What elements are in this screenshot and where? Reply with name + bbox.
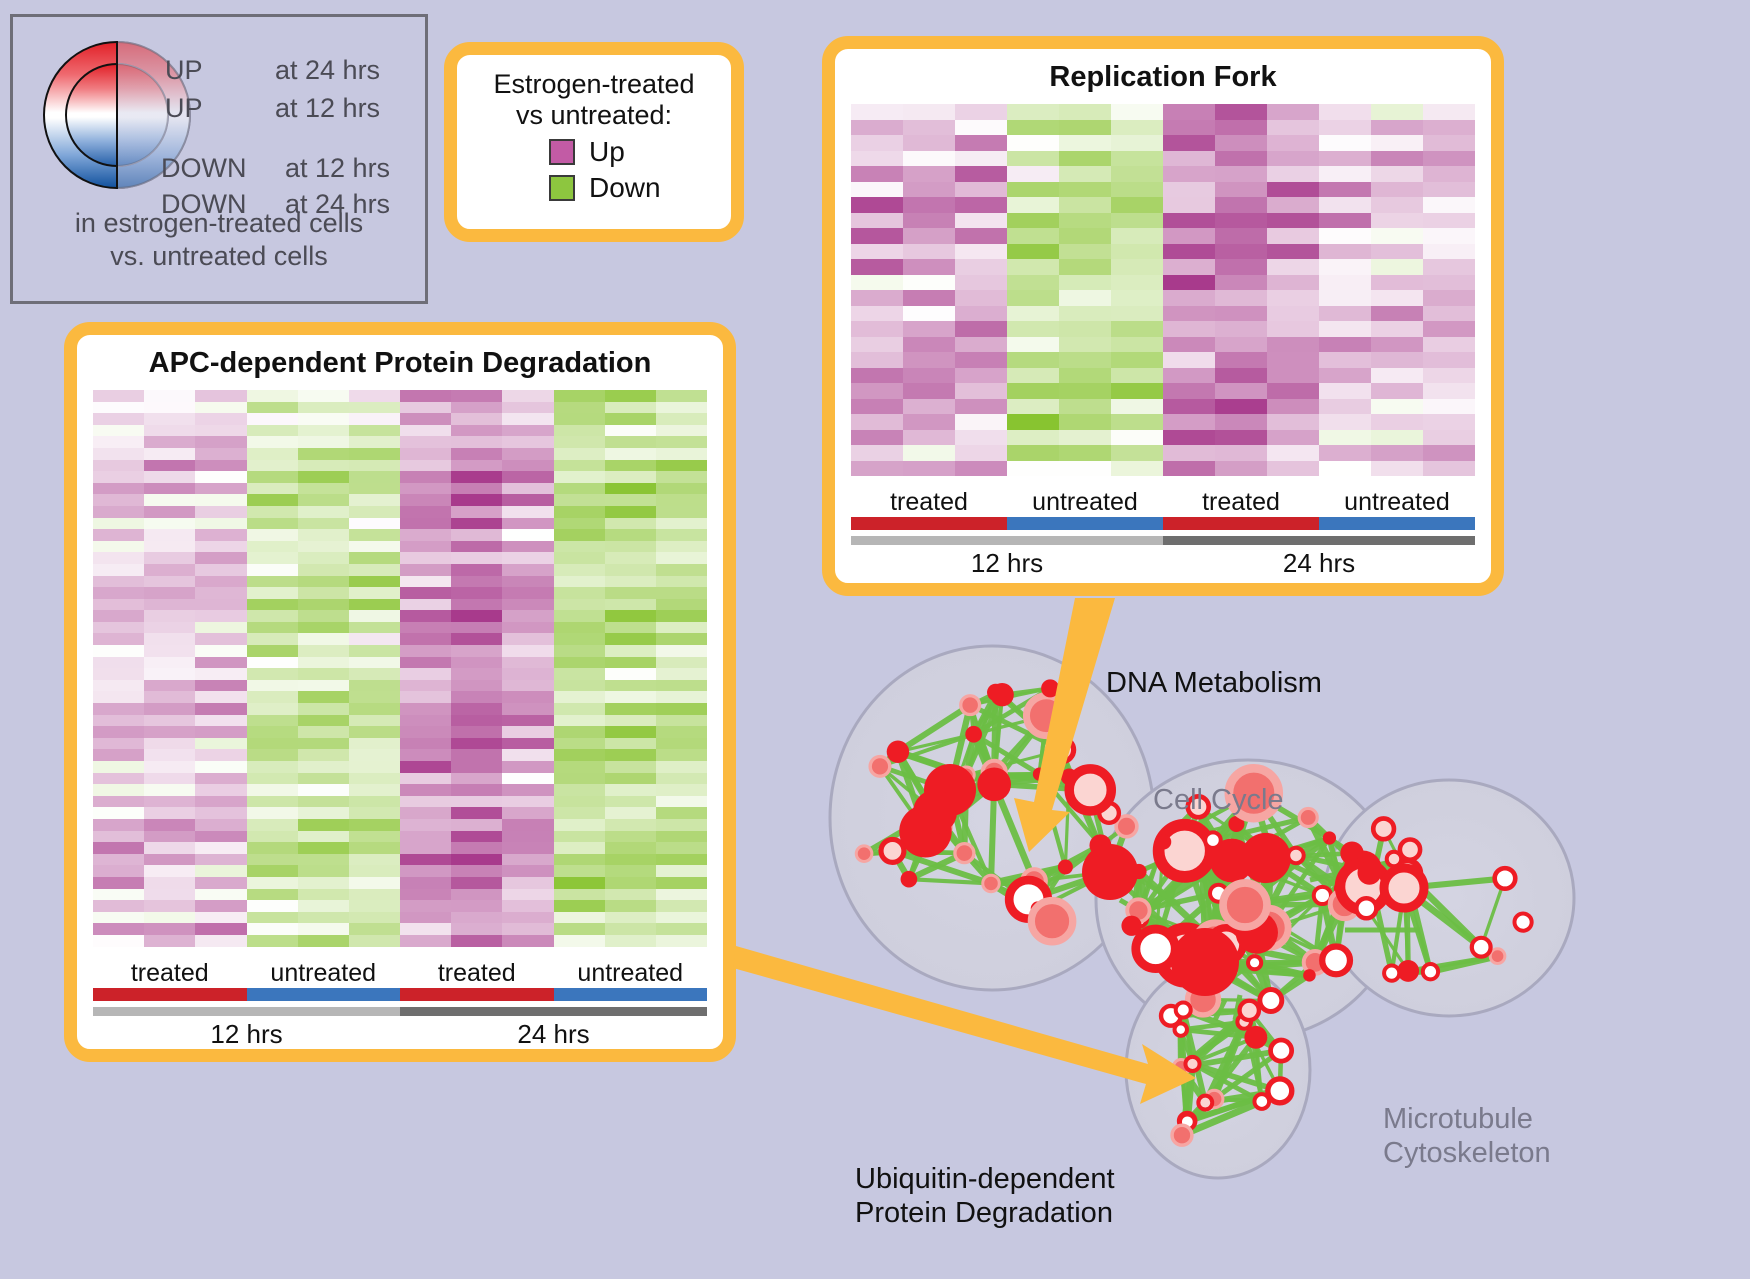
network-edge xyxy=(1156,933,1257,949)
network-node xyxy=(1400,840,1420,860)
time-label-1: 24 hrs xyxy=(1163,548,1475,579)
condition-label-2: treated xyxy=(400,959,554,988)
network-node xyxy=(1161,1006,1181,1026)
key-row-1-time: at 12 hrs xyxy=(275,93,380,124)
network-edge xyxy=(1202,862,1218,969)
network-edge xyxy=(1181,1030,1256,1038)
network-edge xyxy=(1186,945,1226,956)
network-edge xyxy=(1181,1067,1205,1102)
network-node xyxy=(1228,816,1244,832)
network-edge xyxy=(1202,862,1226,945)
network-edge xyxy=(935,812,942,827)
network-edge xyxy=(1309,889,1344,975)
network-edges xyxy=(864,688,1505,1135)
network-node xyxy=(881,839,904,862)
network-edge xyxy=(1218,861,1232,970)
ring-vertical-divider xyxy=(116,41,118,189)
network-edge xyxy=(864,812,935,854)
network-edge xyxy=(994,784,1034,881)
key-footer-line1: in estrogen-treated cells xyxy=(13,207,425,240)
network-edge xyxy=(1310,860,1400,880)
network-node xyxy=(1160,928,1213,981)
network-edge xyxy=(970,705,1062,750)
network-node xyxy=(1384,966,1399,981)
network-edge xyxy=(880,766,926,831)
network-node xyxy=(1373,818,1394,839)
network-edge xyxy=(1132,926,1156,949)
network-edge xyxy=(1269,895,1323,927)
network-edge xyxy=(970,705,994,784)
network-edge xyxy=(1186,905,1245,955)
network-edge xyxy=(1255,895,1323,962)
network-edge xyxy=(1164,842,1202,862)
network-edge xyxy=(880,734,974,766)
network-edge xyxy=(1266,853,1352,858)
network-edge xyxy=(1039,750,1062,774)
network-edge xyxy=(1205,933,1257,962)
network-edge xyxy=(1215,943,1315,962)
network-node xyxy=(1127,899,1149,921)
network-node xyxy=(990,683,1013,706)
network-edge xyxy=(1213,840,1215,943)
network-nodes xyxy=(856,679,1531,1145)
network-edge xyxy=(1296,855,1363,870)
network-node xyxy=(1248,956,1261,969)
apc-degradation-panel: APC-dependent Protein Degradation treate… xyxy=(64,322,736,1062)
network-edge xyxy=(1255,963,1271,1001)
network-edge xyxy=(1344,853,1352,889)
network-edge xyxy=(1236,824,1265,858)
network-edge xyxy=(1205,1022,1244,1103)
network-edge xyxy=(1198,807,1245,905)
network-edge xyxy=(1214,1010,1249,1099)
network-edge xyxy=(892,851,991,884)
network-node xyxy=(899,805,952,858)
network-edge xyxy=(1156,842,1164,949)
network-edge xyxy=(898,752,966,775)
network-edge xyxy=(1404,888,1481,947)
network-edge xyxy=(1192,1064,1279,1091)
network-edge xyxy=(1322,895,1336,960)
updown-legend-panel: Estrogen-treated vs untreated: Up Down xyxy=(444,42,744,242)
network-edge xyxy=(1205,1091,1280,1103)
network-edge xyxy=(898,734,974,752)
legend-swatch-up xyxy=(549,139,575,165)
network-node xyxy=(1058,860,1073,875)
network-edge xyxy=(942,734,973,826)
network-edge xyxy=(892,851,964,853)
network-edge xyxy=(1164,824,1237,842)
network-edge xyxy=(1200,995,1205,1018)
network-edge xyxy=(1183,1010,1192,1064)
network-edge xyxy=(1205,1037,1256,1102)
network-edge xyxy=(892,851,908,879)
condition-swatch-2 xyxy=(400,988,554,1001)
network-edge xyxy=(1322,853,1352,895)
replication-fork-condition-colorbar xyxy=(851,517,1475,530)
network-edge xyxy=(1266,858,1323,895)
network-edge xyxy=(1232,824,1236,861)
condition-swatch-3 xyxy=(554,988,708,1001)
network-edge xyxy=(1181,1051,1281,1068)
network-node xyxy=(1193,854,1210,871)
network-edge xyxy=(1181,1037,1256,1067)
network-edge xyxy=(1205,1099,1214,1103)
network-node xyxy=(1357,861,1381,885)
network-edge xyxy=(1132,872,1139,926)
network-node xyxy=(1490,949,1505,964)
network-edge xyxy=(970,705,994,772)
network-node xyxy=(1171,928,1239,996)
network-node xyxy=(1031,901,1045,915)
network-edge xyxy=(1034,867,1065,881)
network-edge xyxy=(1181,1010,1249,1067)
network-edge xyxy=(942,827,964,854)
network-edge xyxy=(1039,774,1069,777)
network-node xyxy=(1495,868,1516,889)
cluster-label-microtubule-cytoskeleton: Microtubule Cytoskeleton xyxy=(1383,1102,1551,1170)
network-node xyxy=(1180,1114,1195,1129)
network-edge xyxy=(1219,893,1255,963)
network-edge xyxy=(1408,956,1497,971)
network-edge xyxy=(1186,955,1203,999)
network-edge xyxy=(1245,856,1271,905)
network-edge xyxy=(1132,862,1202,926)
network-edge xyxy=(1192,1010,1249,1064)
network-edge xyxy=(1404,888,1408,971)
network-edge xyxy=(1269,856,1272,928)
network-node xyxy=(1176,1002,1191,1017)
network-node xyxy=(987,684,1004,701)
network-edge xyxy=(1039,774,1100,845)
network-node xyxy=(1031,900,1072,941)
network-edge xyxy=(1192,1064,1261,1102)
network-edge xyxy=(935,784,994,812)
replication-fork-title: Replication Fork xyxy=(835,61,1491,94)
network-node xyxy=(1026,696,1066,736)
network-edge xyxy=(1028,845,1100,899)
network-node xyxy=(1050,738,1073,761)
network-edge xyxy=(1257,858,1266,933)
network-edge xyxy=(925,827,942,832)
network-edge xyxy=(1249,1010,1281,1050)
network-node xyxy=(1198,1096,1212,1110)
network-edge xyxy=(1187,1103,1205,1122)
network-edge xyxy=(1132,918,1139,925)
network-edge xyxy=(1257,933,1315,963)
network-edge xyxy=(1249,1010,1256,1037)
network-edge xyxy=(1185,851,1266,858)
network-edge xyxy=(925,812,935,831)
key-row-2-time: at 12 hrs xyxy=(285,153,390,184)
network-edge xyxy=(1257,855,1296,932)
network-edge xyxy=(1363,886,1404,888)
network-edge xyxy=(1185,851,1216,943)
halo-microtubule xyxy=(1324,780,1574,1016)
network-edge xyxy=(1215,943,1226,945)
network-edge xyxy=(1205,943,1215,962)
network-edge xyxy=(1315,889,1344,962)
replication-fork-heatmap xyxy=(851,104,1475,476)
network-edge xyxy=(991,883,1052,921)
key-row-1-state: UP xyxy=(165,93,203,124)
network-edge xyxy=(994,774,1039,784)
time-swatch-1 xyxy=(1163,536,1475,545)
network-edge xyxy=(1202,862,1257,933)
time-swatch-0 xyxy=(93,1007,400,1016)
network-edge xyxy=(1156,851,1185,949)
network-edge xyxy=(974,734,995,772)
network-edge xyxy=(1336,853,1352,960)
network-edge xyxy=(1181,1067,1187,1121)
network-node xyxy=(1131,864,1146,879)
network-edge xyxy=(1271,975,1310,1000)
network-edge xyxy=(1139,851,1185,872)
network-edge xyxy=(1139,840,1213,918)
network-edge xyxy=(1213,817,1308,840)
network-edge xyxy=(1139,918,1203,999)
network-edge xyxy=(1322,895,1344,904)
legend-item-up: Up xyxy=(549,136,731,168)
network-node xyxy=(1033,767,1046,780)
network-edge xyxy=(1245,905,1257,933)
network-edge xyxy=(1407,874,1409,971)
network-edge xyxy=(1132,910,1139,925)
network-edge xyxy=(950,775,966,790)
network-node xyxy=(933,817,951,835)
network-node xyxy=(1423,964,1438,979)
network-edge xyxy=(1090,790,1109,813)
network-node xyxy=(1210,839,1254,883)
network-edge xyxy=(1309,904,1344,975)
network-node xyxy=(1288,848,1303,863)
network-node xyxy=(1472,938,1491,957)
network-edge xyxy=(1132,926,1216,943)
network-edge xyxy=(1090,790,1110,872)
network-edge xyxy=(880,766,935,812)
time-swatch-0 xyxy=(851,536,1163,545)
network-edge xyxy=(1132,926,1219,969)
network-edge xyxy=(1244,1022,1280,1091)
network-node xyxy=(1236,911,1278,953)
network-edge xyxy=(1257,928,1269,933)
network-edge xyxy=(909,831,926,879)
network-edge xyxy=(925,775,966,831)
network-edge xyxy=(1363,850,1410,887)
network-edge xyxy=(1034,872,1110,881)
network-edge xyxy=(1139,840,1213,871)
time-label-0: 12 hrs xyxy=(93,1019,400,1050)
network-edge xyxy=(1245,889,1344,905)
condition-swatch-1 xyxy=(247,988,401,1001)
network-edge xyxy=(1139,918,1215,943)
replication-fork-panel: Replication Fork treateduntreatedtreated… xyxy=(822,36,1504,596)
network-edge xyxy=(1266,856,1272,858)
network-edge xyxy=(1028,872,1110,899)
network-edge xyxy=(1039,774,1090,790)
legend-label-up: Up xyxy=(589,136,625,168)
network-edge xyxy=(1329,838,1344,889)
network-edge xyxy=(1344,853,1352,904)
network-node xyxy=(924,764,976,816)
network-edge xyxy=(1213,840,1266,858)
network-edge xyxy=(1205,861,1232,962)
network-node xyxy=(1130,910,1147,927)
network-edge xyxy=(1315,960,1336,962)
condition-label-1: untreated xyxy=(1007,488,1163,517)
network-edge xyxy=(1109,813,1126,826)
network-edge xyxy=(1257,904,1345,932)
network-edge xyxy=(966,775,1069,777)
network-node xyxy=(1393,860,1420,887)
network-edge xyxy=(974,734,1040,774)
network-edge xyxy=(1203,963,1255,1000)
network-node xyxy=(1249,908,1288,947)
network-node xyxy=(1262,847,1280,865)
network-edge xyxy=(1139,842,1164,919)
network-edge xyxy=(1156,893,1219,949)
network-edge xyxy=(1139,872,1215,943)
network-edge xyxy=(964,853,991,883)
network-edge xyxy=(970,705,973,734)
legend-heading: Estrogen-treated vs untreated: xyxy=(457,69,731,132)
network-edge xyxy=(1202,862,1205,962)
network-edge xyxy=(991,784,994,883)
network-node xyxy=(1336,881,1352,897)
network-edge xyxy=(994,695,1002,773)
network-edge xyxy=(994,716,1046,785)
legend-label-down: Down xyxy=(589,172,661,204)
network-node xyxy=(1121,916,1141,936)
network-edge xyxy=(1181,1064,1192,1067)
network-edge xyxy=(950,784,994,790)
network-edge xyxy=(880,766,950,790)
network-edge xyxy=(1164,842,1219,893)
network-edge xyxy=(1407,874,1431,972)
network-edge xyxy=(1205,962,1255,963)
network-node xyxy=(1210,885,1227,902)
network-edge xyxy=(1132,926,1187,955)
network-edge xyxy=(1296,855,1345,904)
network-node xyxy=(1241,833,1291,883)
network-edge xyxy=(1185,851,1257,933)
network-edge xyxy=(1430,956,1497,972)
cluster-label-ubiquitin-protein-degradation: Ubiquitin-dependent Protein Degradation xyxy=(855,1162,1115,1230)
network-edge xyxy=(1366,908,1408,971)
network-edge xyxy=(898,752,935,812)
network-edge xyxy=(1369,873,1391,973)
network-node xyxy=(870,757,890,777)
network-edge xyxy=(964,853,1037,908)
network-edge xyxy=(909,853,964,879)
network-edge xyxy=(1384,829,1407,874)
network-edge xyxy=(1100,826,1126,845)
network-edge xyxy=(935,812,964,853)
network-edge xyxy=(1202,858,1266,862)
network-edge xyxy=(1215,943,1271,1001)
network-node xyxy=(1099,803,1119,823)
condition-swatch-3 xyxy=(1319,517,1475,530)
network-edge xyxy=(1182,1064,1193,1135)
network-edge xyxy=(991,881,1034,884)
network-edge xyxy=(1481,878,1505,947)
network-edge xyxy=(1065,777,1069,867)
network-edge xyxy=(925,772,994,831)
network-edge xyxy=(1138,878,1180,905)
network-edge xyxy=(1256,1037,1262,1101)
network-edge xyxy=(1183,1010,1256,1037)
network-edge xyxy=(909,790,950,879)
network-edge xyxy=(1202,862,1245,905)
apc-time-colorbar xyxy=(93,1007,707,1016)
time-swatch-1 xyxy=(400,1007,707,1016)
network-edge xyxy=(1322,870,1362,895)
network-edge xyxy=(994,777,1069,784)
network-edge xyxy=(1186,943,1215,955)
network-edge xyxy=(1062,750,1100,845)
network-node xyxy=(1069,769,1111,811)
network-node xyxy=(983,875,1000,892)
network-edge xyxy=(1219,893,1245,905)
network-edge xyxy=(1262,1091,1280,1102)
network-edge xyxy=(1183,1010,1205,1103)
network-node xyxy=(887,741,909,763)
key-row-0-time: at 24 hrs xyxy=(275,55,380,86)
network-node xyxy=(1268,1079,1292,1103)
network-edge xyxy=(1392,971,1409,973)
network-edge xyxy=(1100,845,1110,872)
replication-fork-time-labels: 12 hrs24 hrs xyxy=(851,548,1475,579)
network-edge xyxy=(950,772,994,790)
network-edge xyxy=(994,772,1090,790)
network-edge xyxy=(1245,905,1269,928)
network-edge xyxy=(1185,840,1213,851)
network-edge xyxy=(1164,842,1272,856)
network-edge xyxy=(966,692,995,774)
network-edge xyxy=(898,752,926,831)
network-edge xyxy=(935,772,994,812)
network-edge xyxy=(1269,928,1316,963)
network-edge xyxy=(966,734,973,775)
network-node xyxy=(1330,890,1359,919)
network-edge xyxy=(1235,995,1240,1020)
network-edge xyxy=(1213,840,1257,932)
network-edge xyxy=(994,692,996,772)
network-edge xyxy=(909,879,991,883)
network-edge xyxy=(1218,962,1315,969)
network-edge xyxy=(1132,851,1185,926)
network-edge xyxy=(898,752,942,827)
network-node xyxy=(1089,834,1111,856)
network-edge xyxy=(1202,862,1216,943)
network-edge xyxy=(1271,838,1329,856)
network-edge xyxy=(1215,1000,1225,1020)
network-node xyxy=(965,726,982,743)
network-edge xyxy=(1407,874,1482,948)
network-edge xyxy=(1315,895,1322,962)
cluster-halos xyxy=(830,646,1574,1178)
network-edge xyxy=(1336,889,1344,960)
condition-label-2: treated xyxy=(1163,488,1319,517)
network-edge xyxy=(1369,850,1410,873)
network-node xyxy=(1323,831,1336,844)
network-edge xyxy=(1363,886,1366,908)
network-edge xyxy=(1038,872,1110,909)
legend-swatch-down xyxy=(549,175,575,201)
network-edge xyxy=(864,851,892,854)
network-edge xyxy=(1139,872,1156,949)
network-edge xyxy=(1232,861,1322,896)
